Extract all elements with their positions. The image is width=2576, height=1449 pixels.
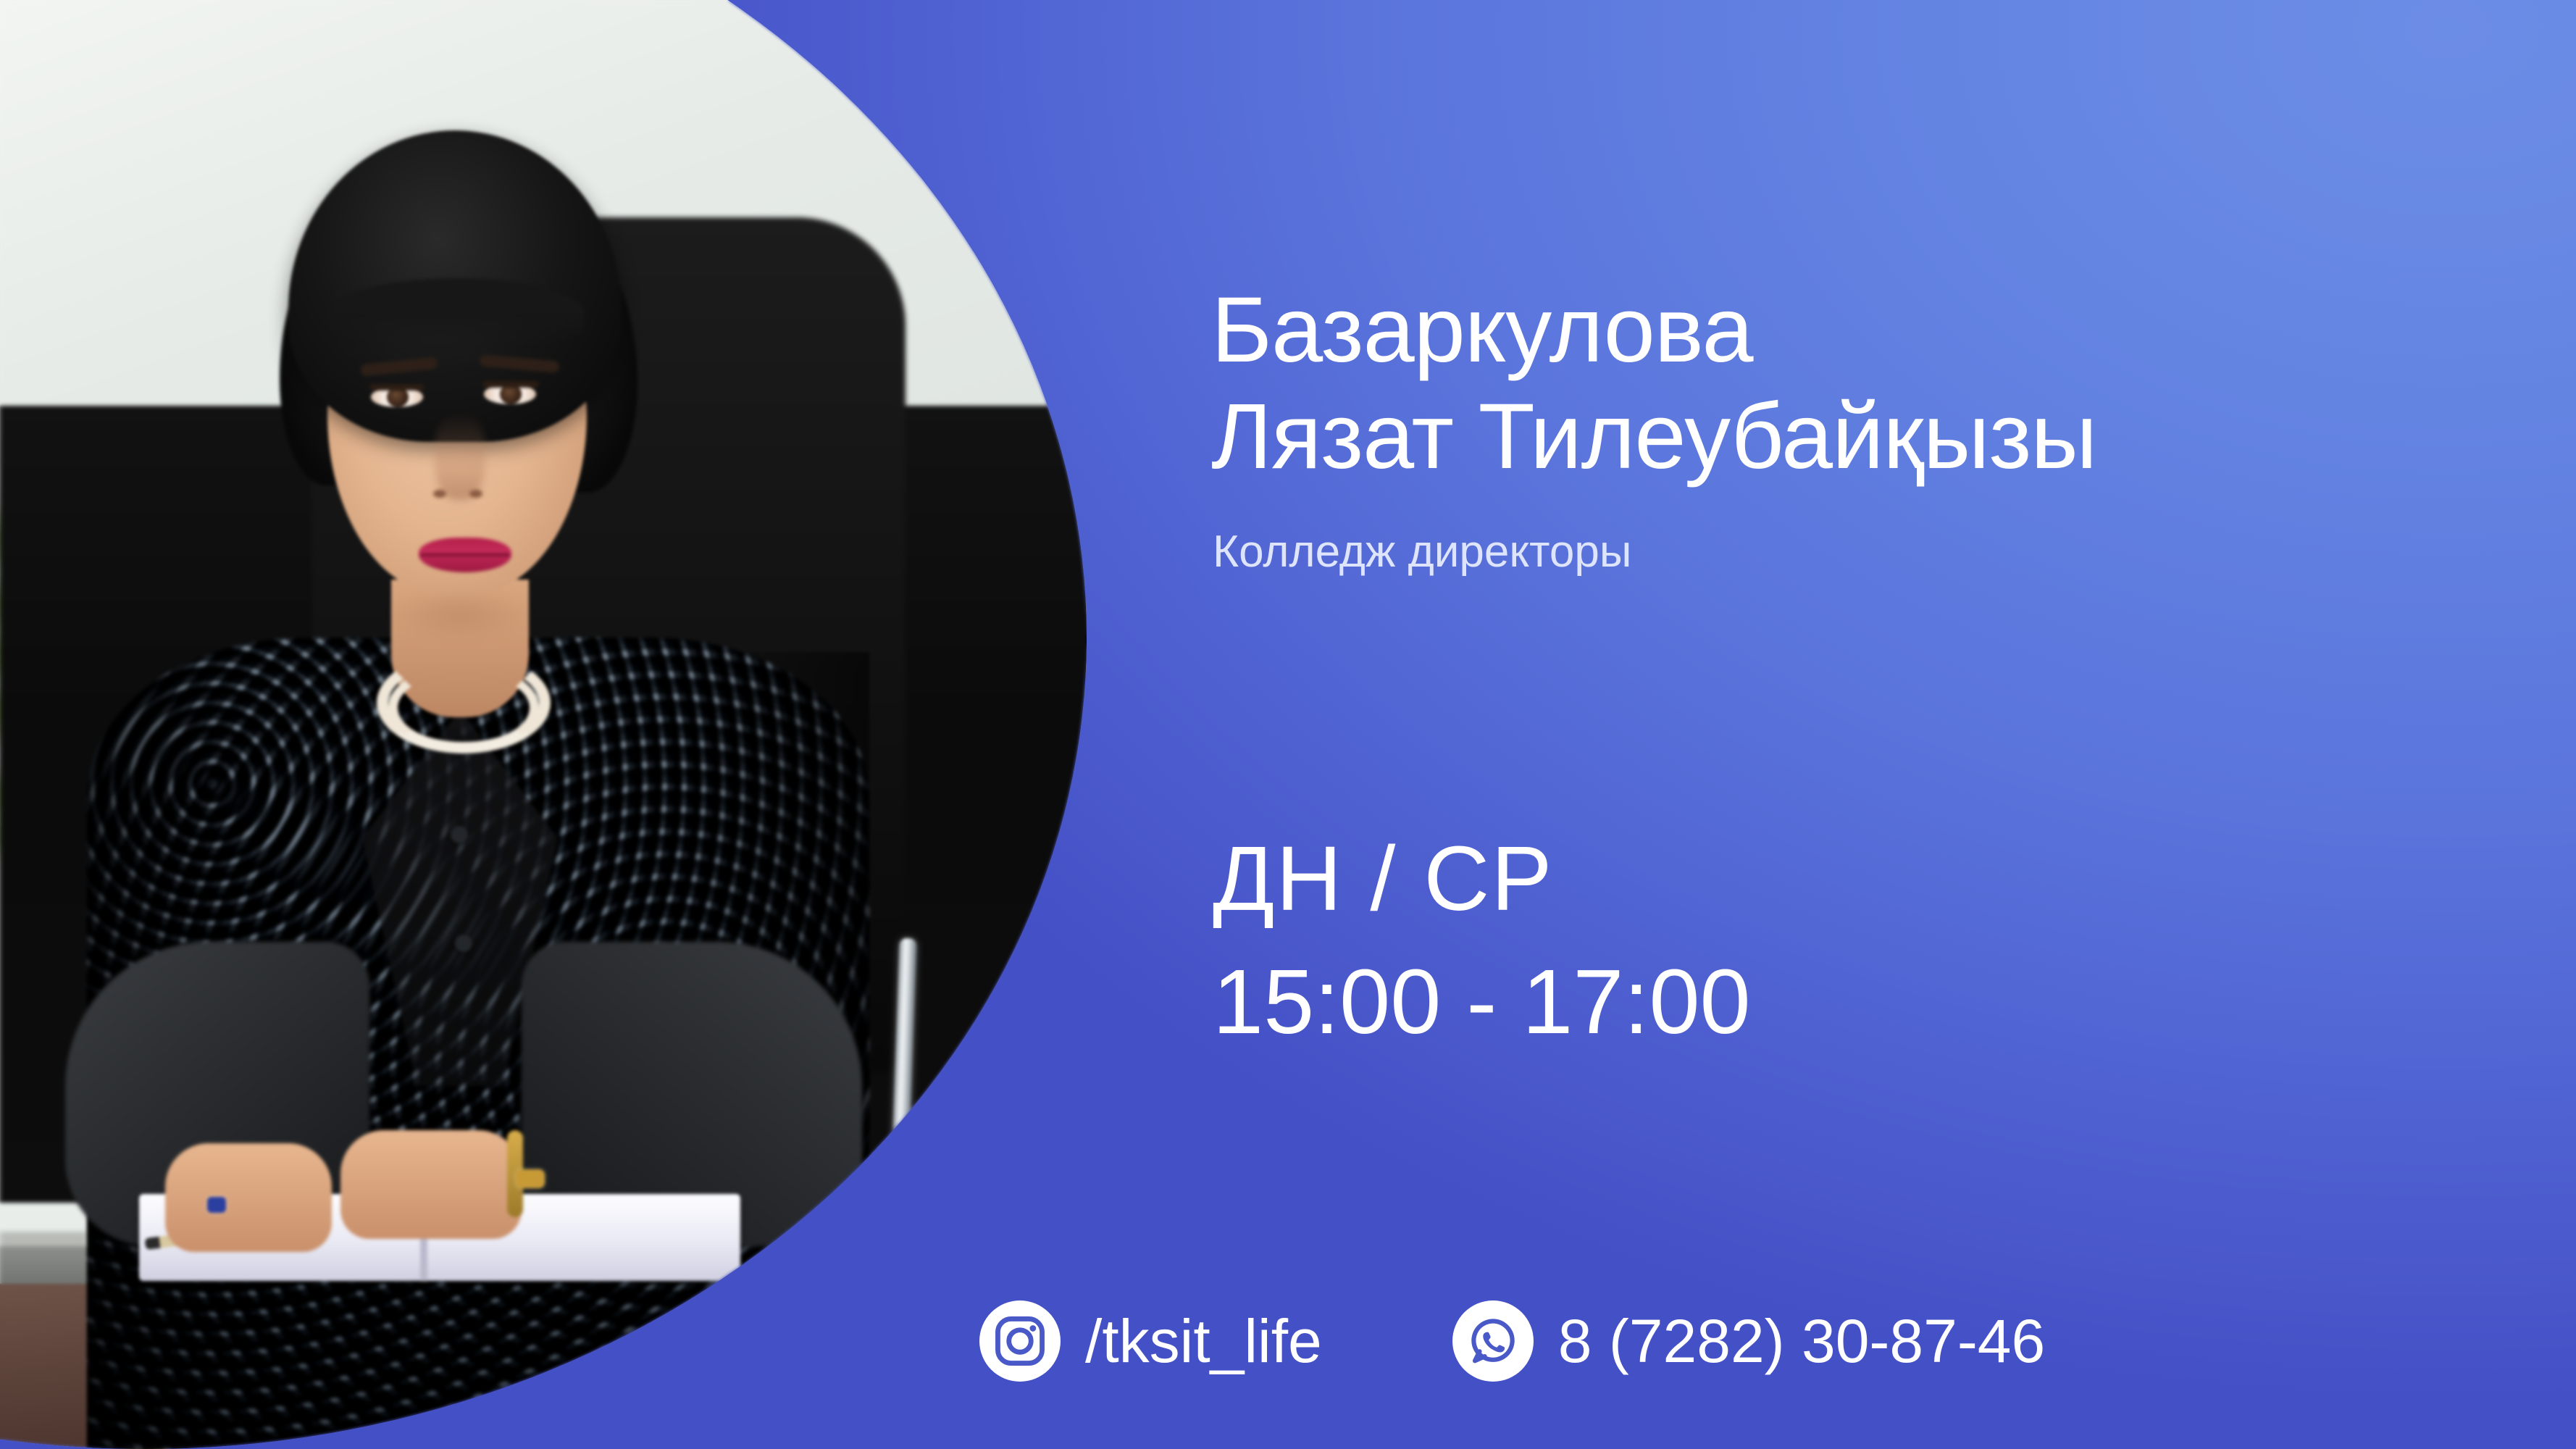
instagram-handle[interactable]: /tksit_life	[1085, 1306, 1322, 1377]
info-content: Базаркулова Лязат Тилеубайқызы Колледж д…	[1211, 0, 2576, 1449]
instagram-icon[interactable]	[979, 1300, 1061, 1382]
whatsapp-phone[interactable]: 8 (7282) 30-87-46	[1558, 1306, 2045, 1377]
person-role: Колледж директоры	[1213, 526, 1631, 577]
person-name-line-1: Базаркулова	[1211, 275, 1753, 385]
schedule-days: ДН / СР	[1213, 826, 1553, 931]
contact-bar: /tksit_life 8 (7282) 30-87-46	[979, 1272, 2576, 1410]
person-name-line-2: Лязат Тилеубайқызы	[1211, 382, 2096, 491]
contact-instagram[interactable]: /tksit_life	[979, 1300, 1322, 1382]
schedule-time: 15:00 - 17:00	[1213, 949, 1751, 1054]
whatsapp-icon[interactable]	[1452, 1300, 1534, 1382]
director-info-card: Базаркулова Лязат Тилеубайқызы Колледж д…	[0, 0, 2576, 1449]
contact-whatsapp[interactable]: 8 (7282) 30-87-46	[1452, 1300, 2045, 1382]
